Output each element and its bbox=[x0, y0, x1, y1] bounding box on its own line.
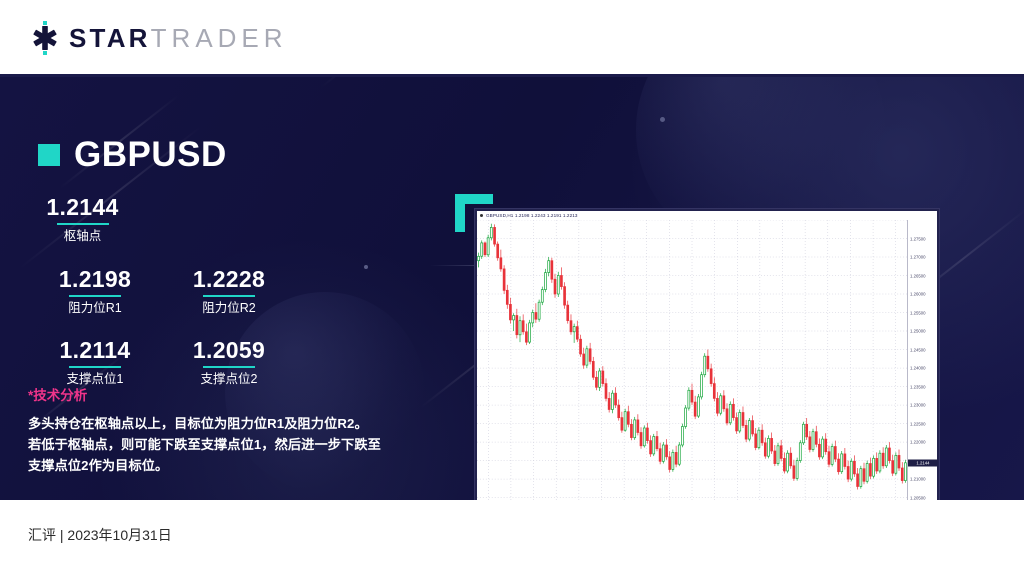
level-underline bbox=[69, 295, 121, 297]
analysis-line-1: 多头持仓在枢轴点以上，目标位为阻力位R1及阻力位R2。 bbox=[28, 413, 403, 434]
instrument-title: GBPUSD bbox=[38, 137, 227, 172]
price-tick: 1.26000 bbox=[910, 292, 926, 297]
price-tick: 1.24000 bbox=[910, 366, 926, 371]
level-r1-label: 阻力位R1 bbox=[28, 302, 162, 315]
level-s2-label: 支撑点位2 bbox=[162, 373, 296, 386]
price-tick: 1.25000 bbox=[910, 329, 926, 334]
background-dot-3 bbox=[660, 117, 665, 122]
brand-name-light: TRADER bbox=[151, 23, 288, 53]
brand-name-bold: STAR bbox=[69, 23, 151, 53]
level-underline bbox=[203, 295, 255, 297]
brand-logo[interactable]: STARTRADER bbox=[28, 21, 288, 55]
page-title: GBPUSD bbox=[74, 137, 227, 172]
analysis-block: *技术分析 多头持仓在枢轴点以上，目标位为阻力位R1及阻力位R2。 若低于枢轴点… bbox=[28, 389, 403, 477]
price-tick: 1.22000 bbox=[910, 440, 926, 445]
price-tick: 1.24500 bbox=[910, 347, 926, 352]
analysis-title: *技术分析 bbox=[28, 389, 403, 403]
chart-window[interactable]: GBPUSD,H1 1.2198 1.2243 1.2191 1.2213 1.… bbox=[474, 208, 940, 500]
pivot-row-main: 1.2144 枢轴点 bbox=[0, 195, 430, 243]
level-s2: 1.2059 支撑点位2 bbox=[162, 338, 296, 386]
page-footer: 汇评 | 2023年10月31日 bbox=[0, 500, 1024, 576]
chart-body: 1.275001.270001.265001.260001.255001.250… bbox=[477, 220, 937, 500]
analysis-line-2: 若低于枢轴点，则可能下跌至支撑点位1，然后进一步下跌至 bbox=[28, 434, 403, 455]
level-s1: 1.2114 支撑点位1 bbox=[28, 338, 162, 386]
six-point-star-icon bbox=[28, 21, 62, 55]
level-r2: 1.2228 阻力位R2 bbox=[162, 267, 296, 315]
price-tick: 1.23500 bbox=[910, 384, 926, 389]
level-r2-value: 1.2228 bbox=[162, 267, 296, 291]
level-pivot: 1.2144 枢轴点 bbox=[0, 195, 165, 243]
analysis-line-3: 支撑点位2作为目标位。 bbox=[28, 455, 403, 476]
price-tick: 1.23000 bbox=[910, 403, 926, 408]
level-s1-value: 1.2114 bbox=[28, 338, 162, 362]
level-r2-label: 阻力位R2 bbox=[162, 302, 296, 315]
collapse-dot-icon[interactable] bbox=[480, 214, 483, 217]
hero-stage: GBPUSD 1.2144 枢轴点 1.2198 阻力位R1 1.2228 bbox=[0, 77, 1024, 500]
level-r1: 1.2198 阻力位R1 bbox=[28, 267, 162, 315]
candlestick-plot[interactable] bbox=[477, 220, 907, 500]
square-bullet-icon bbox=[38, 144, 60, 166]
chart-titlebar: GBPUSD,H1 1.2198 1.2243 1.2191 1.2213 bbox=[477, 211, 937, 220]
price-tick: 1.26500 bbox=[910, 273, 926, 278]
analysis-text: 多头持仓在枢轴点以上，目标位为阻力位R1及阻力位R2。 若低于枢轴点，则可能下跌… bbox=[28, 413, 403, 477]
footer-caption: 汇评 | 2023年10月31日 bbox=[28, 528, 172, 542]
pivot-levels: 1.2144 枢轴点 1.2198 阻力位R1 1.2228 阻力位R2 bbox=[0, 195, 430, 386]
page-header: STARTRADER bbox=[0, 0, 1024, 76]
chart-header-text: GBPUSD,H1 1.2198 1.2243 1.2191 1.2213 bbox=[486, 213, 578, 218]
level-s2-value: 1.2059 bbox=[162, 338, 296, 362]
price-tick: 1.27500 bbox=[910, 236, 926, 241]
level-underline bbox=[69, 366, 121, 368]
price-tick: 1.27000 bbox=[910, 255, 926, 260]
level-r1-value: 1.2198 bbox=[28, 267, 162, 291]
analysis-title-text: 技术分析 bbox=[33, 388, 87, 403]
current-price-marker: 1.2144 bbox=[908, 459, 938, 466]
pivot-row-support: 1.2114 支撑点位1 1.2059 支撑点位2 bbox=[0, 338, 430, 386]
level-underline bbox=[57, 223, 109, 225]
price-tick: 1.22500 bbox=[910, 421, 926, 426]
pivot-row-resistance: 1.2198 阻力位R1 1.2228 阻力位R2 bbox=[0, 267, 430, 315]
brand-wordmark: STARTRADER bbox=[69, 25, 288, 51]
level-s1-label: 支撑点位1 bbox=[28, 373, 162, 386]
price-tick: 1.21000 bbox=[910, 477, 926, 482]
level-pivot-value: 1.2144 bbox=[0, 195, 165, 219]
price-tick: 1.25500 bbox=[910, 310, 926, 315]
level-underline bbox=[203, 366, 255, 368]
left-panel: GBPUSD 1.2144 枢轴点 1.2198 阻力位R1 1.2228 bbox=[0, 77, 430, 500]
level-pivot-label: 枢轴点 bbox=[0, 230, 165, 243]
price-axis[interactable]: 1.275001.270001.265001.260001.255001.250… bbox=[907, 220, 937, 500]
